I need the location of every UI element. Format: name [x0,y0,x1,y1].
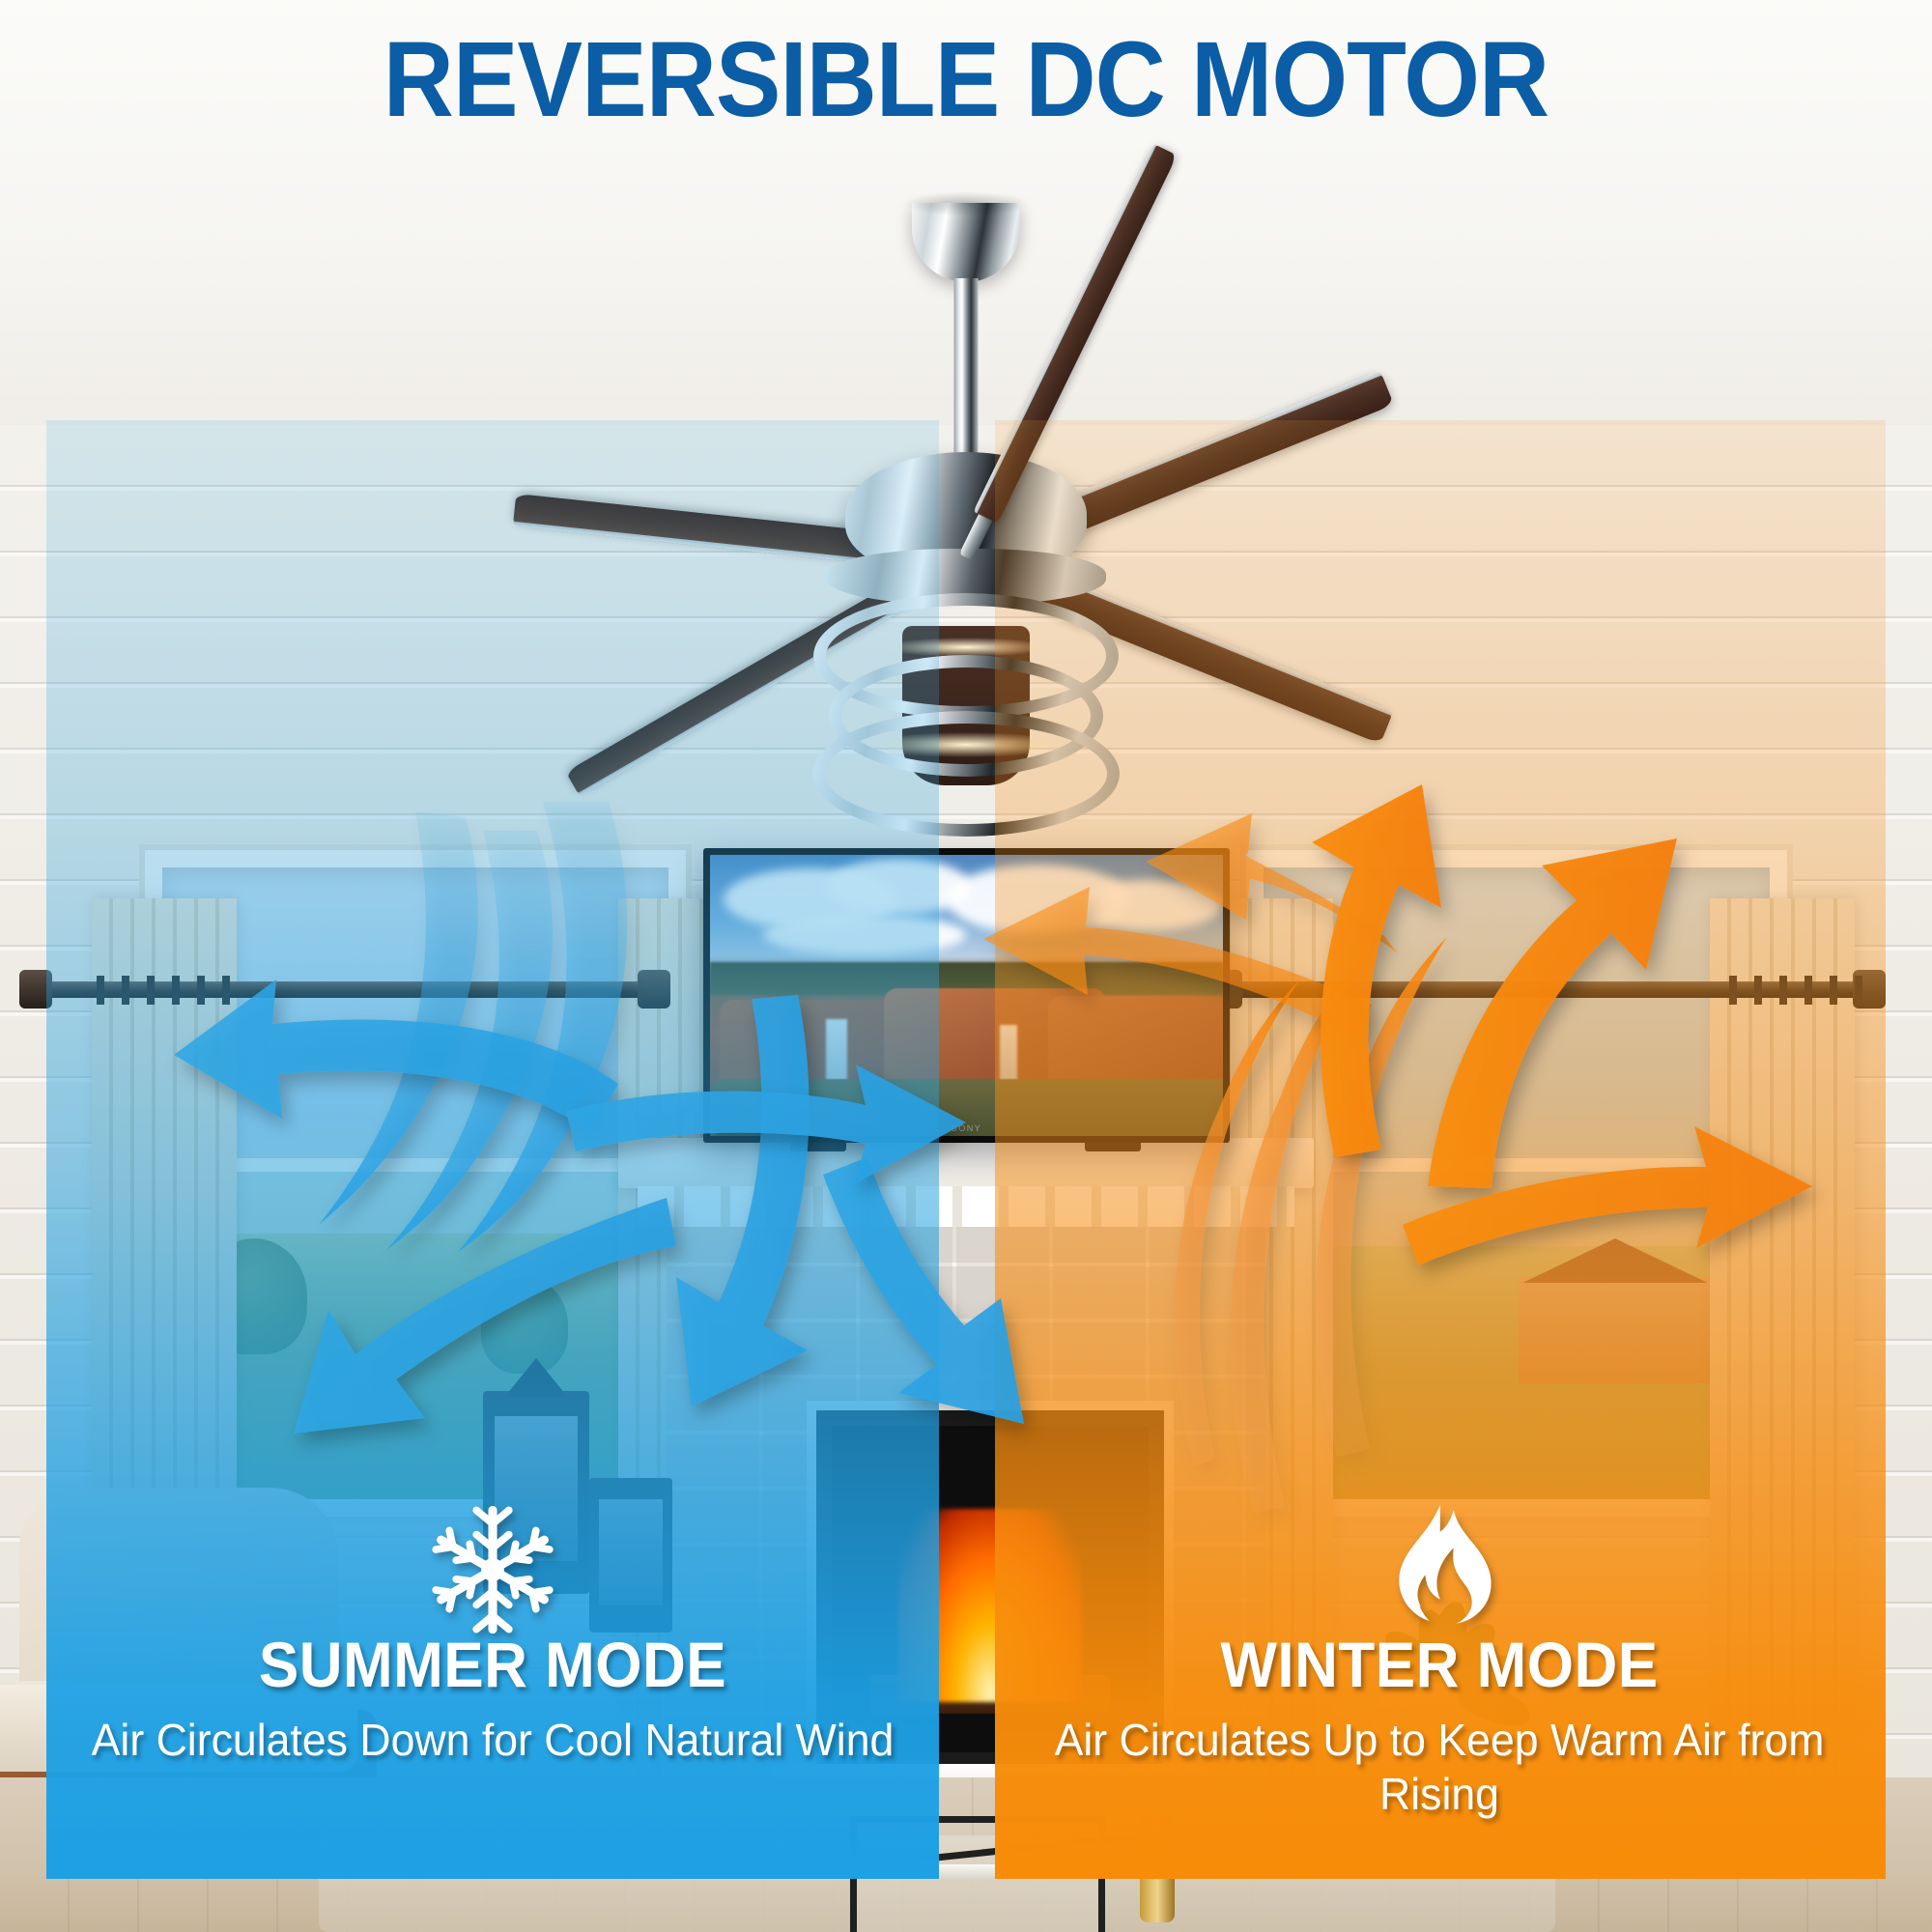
page-title: REVERSIBLE DC MOTOR [77,27,1855,133]
mantel-dentil-trim [638,1186,1294,1227]
flame-shape [1399,1505,1491,1624]
winter-mode-title: WINTER MODE [1031,1633,1848,1697]
summer-mode-title: SUMMER MODE [84,1633,901,1697]
tv-brand-logo: SONY [952,1123,982,1133]
fan-light-kit [821,587,1111,810]
brass-candlestick [1140,1816,1175,1922]
winter-mode-caption: WINTER MODE Air Circulates Up to Keep Wa… [1005,1633,1874,1822]
flame-icon [1370,1499,1505,1634]
wire-basket [850,1816,1105,1932]
fan-canopy [912,203,1020,282]
ceiling-fan [338,203,1594,821]
tv-cloud [1077,880,1222,930]
mantel-shelf [618,1138,1314,1188]
tv-cloud [763,915,966,955]
summer-mode-subtitle: Air Circulates Down for Cool Natural Win… [71,1713,915,1767]
window-mullion [1264,1158,1770,1172]
tv-mount-foot [1085,1143,1141,1151]
light-kit-ring [812,711,1120,837]
winter-mode-subtitle: Air Circulates Up to Keep Warm Air from … [1018,1713,1861,1821]
wall-mounted-tv: SONY [703,848,1230,1143]
window-tree [481,1277,568,1374]
curtain-rod-finial [638,970,670,1009]
fan-downrod [954,278,979,462]
curtain-rings [1729,976,1874,1005]
curtain-rings [97,976,241,1005]
window-house [1519,1277,1712,1383]
summer-mode-caption: SUMMER MODE Air Circulates Down for Cool… [58,1633,927,1767]
tv-waterfall [1000,1025,1017,1087]
tv-screen: SONY [710,855,1223,1136]
snowflake-icon [425,1502,560,1637]
decor-lantern [589,1478,672,1633]
window-mullion [162,1158,668,1172]
tv-mount-foot [790,1143,846,1151]
infographic-canvas: SONY [0,0,1932,1932]
curtain-rod-finial [19,970,52,1009]
